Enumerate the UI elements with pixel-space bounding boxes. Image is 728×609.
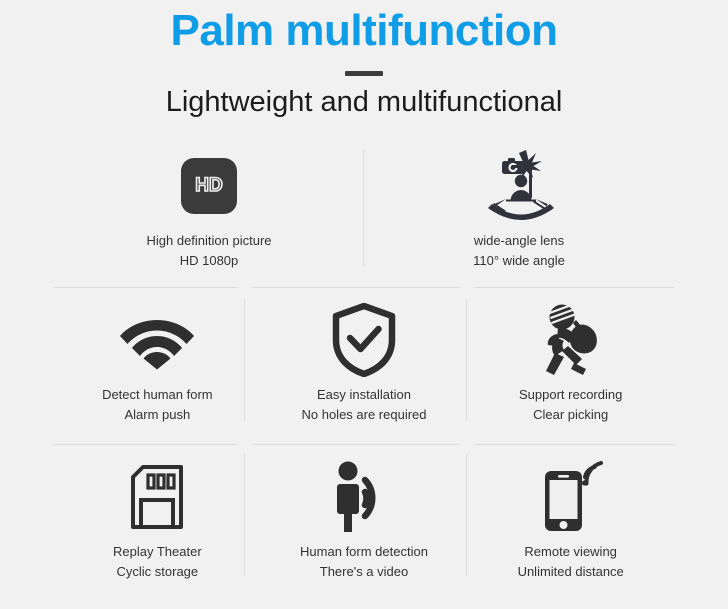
feature-caption: Detect human form Alarm push (102, 385, 213, 425)
feature-row-1: HD High definition picture HD 1080p (54, 133, 674, 287)
wifi-signal-icon (120, 299, 194, 381)
feature-cell-human-form-detection[interactable]: Human form detection There's a video (261, 444, 468, 598)
feature-line-1: Detect human form (102, 385, 213, 405)
page-header: Palm multifunction Lightweight and multi… (0, 0, 728, 119)
product-feature-page: Palm multifunction Lightweight and multi… (0, 0, 728, 609)
page-subtitle: Lightweight and multifunctional (0, 86, 728, 119)
feature-row-3: Replay Theater Cyclic storage (54, 444, 674, 598)
feature-line-1: Remote viewing (518, 542, 624, 562)
feature-row-2: Detect human form Alarm push Easy instal… (54, 287, 674, 444)
title-divider-dash (345, 71, 383, 76)
page-title: Palm multifunction (0, 6, 728, 57)
feature-caption: High definition picture HD 1080p (146, 231, 271, 271)
feature-line-1: Human form detection (300, 542, 428, 562)
feature-line-1: Support recording (519, 385, 622, 405)
sd-card-glyph (129, 464, 185, 530)
feature-line-1: High definition picture (146, 231, 271, 251)
feature-line-2: No holes are required (301, 405, 426, 425)
feature-caption: Replay Theater Cyclic storage (113, 542, 202, 582)
feature-cell-support-recording[interactable]: Support recording Clear picking (467, 287, 674, 444)
burglar-icon (538, 299, 604, 381)
feature-caption: Support recording Clear picking (519, 385, 622, 425)
feature-caption: Remote viewing Unlimited distance (518, 542, 624, 582)
vertical-divider (244, 299, 245, 421)
feature-line-2: There's a video (300, 562, 428, 582)
feature-line-2: Alarm push (102, 405, 213, 425)
vertical-divider (466, 454, 467, 576)
person-motion-detect-icon (327, 456, 401, 538)
wide-angle-camera-glyph (476, 148, 562, 224)
wide-angle-camera-icon (476, 145, 562, 227)
shield-check-glyph (332, 303, 396, 377)
feature-line-2: 110° wide angle (473, 251, 565, 271)
feature-line-1: Easy installation (301, 385, 426, 405)
hd-badge-label: HD (195, 176, 222, 195)
smartphone-wifi-icon (537, 456, 605, 538)
feature-cell-human-detect[interactable]: Detect human form Alarm push (54, 287, 261, 444)
feature-grid: HD High definition picture HD 1080p (54, 133, 674, 598)
feature-line-1: Replay Theater (113, 542, 202, 562)
feature-cell-wide-angle[interactable]: wide-angle lens 110° wide angle (364, 133, 674, 287)
feature-line-1: wide-angle lens (473, 231, 565, 251)
feature-cell-hd[interactable]: HD High definition picture HD 1080p (54, 133, 364, 287)
feature-line-2: Cyclic storage (113, 562, 202, 582)
smartphone-wifi-glyph (537, 461, 605, 533)
hd-badge-shape: HD (181, 158, 237, 214)
wifi-signal-glyph (120, 310, 194, 370)
sd-card-icon (129, 456, 185, 538)
feature-cell-replay[interactable]: Replay Theater Cyclic storage (54, 444, 261, 598)
feature-line-2: Unlimited distance (518, 562, 624, 582)
vertical-divider (244, 454, 245, 576)
feature-caption: wide-angle lens 110° wide angle (473, 231, 565, 271)
person-motion-detect-glyph (327, 461, 401, 533)
feature-cell-easy-install[interactable]: Easy installation No holes are required (261, 287, 468, 444)
shield-check-icon (332, 299, 396, 381)
feature-cell-remote-viewing[interactable]: Remote viewing Unlimited distance (467, 444, 674, 598)
feature-caption: Easy installation No holes are required (301, 385, 426, 425)
feature-caption: Human form detection There's a video (300, 542, 428, 582)
burglar-glyph (538, 303, 604, 377)
feature-line-2: HD 1080p (146, 251, 271, 271)
vertical-divider (466, 299, 467, 421)
vertical-divider (363, 149, 364, 267)
hd-badge-icon: HD (181, 145, 237, 227)
feature-line-2: Clear picking (519, 405, 622, 425)
